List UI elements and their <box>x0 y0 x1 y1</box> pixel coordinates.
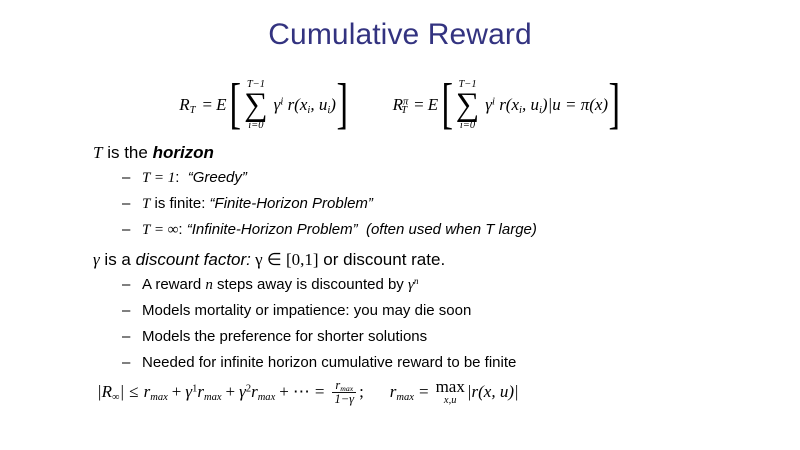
discount-text-a: is a <box>100 250 136 269</box>
body-content: T is the horizon – T = 1: “Greedy” – T i… <box>0 140 800 376</box>
bound-plus3: + <box>279 382 289 402</box>
formula1-summation: T−1 ∑ i=0 <box>244 79 268 131</box>
formula1-bracket-open: [ <box>230 83 242 127</box>
formula2-bracket-open: [ <box>442 83 454 127</box>
bound-plus1: + <box>172 382 182 402</box>
bound-term1: rmax <box>144 382 168 402</box>
dash-bullet-icon: – <box>122 272 142 298</box>
dash-bullet-icon: – <box>122 191 142 217</box>
list-item-content: A reward n steps away is discounted by γ… <box>142 272 419 298</box>
dash-bullet-icon: – <box>122 298 142 324</box>
rmax-lhs: rmax <box>390 382 414 402</box>
horizon-text: is the <box>102 143 152 162</box>
dash-bullet-icon: – <box>122 217 142 243</box>
formula2-equals: = <box>414 95 424 115</box>
bound-lhs: |R∞| <box>97 382 124 402</box>
formula-reward-bound: |R∞| ≤ rmax + γ1rmax + γ2rmax + ⋯ = rmax… <box>97 378 519 406</box>
bound-semicolon: ; <box>359 382 364 402</box>
list-item: – Needed for infinite horizon cumulative… <box>122 350 800 376</box>
list-item-content: T = 1: “Greedy” <box>142 165 247 191</box>
formula1-expectation: E <box>216 95 226 115</box>
fraction-denominator: 1−γ <box>332 393 356 406</box>
list-item: – T = 1: “Greedy” <box>122 165 800 191</box>
discount-math: γ ∈ [0,1] <box>251 250 319 269</box>
bullet-discount-factor: γ is a discount factor: γ ∈ [0,1] or dis… <box>93 247 800 272</box>
max-operator: max x,u <box>436 378 465 406</box>
formula2-condition: |u = π(x) <box>548 95 609 114</box>
formula2-terms: γi r(xi, ui)|u = π(x) <box>485 95 608 115</box>
formula-policy-reward: RπT = E [ T−1 ∑ i=0 γi r(xi, ui)|u = π(x… <box>393 79 621 131</box>
list-item-content: Models the preference for shorter soluti… <box>142 324 427 350</box>
formula2-sum-lower: i=0 <box>460 120 475 131</box>
page-title: Cumulative Reward <box>0 18 800 52</box>
list-item: – A reward n steps away is discounted by… <box>122 272 800 298</box>
max-label: max <box>436 378 465 395</box>
bound-equals: = <box>315 382 325 402</box>
formula1-lhs: RT <box>179 95 195 115</box>
formula2-summation: T−1 ∑ i=0 <box>456 79 480 131</box>
formula1-bracket-close: ] <box>336 83 348 127</box>
formula-cumulative-reward: RT = E [ T−1 ∑ i=0 γi r(xi, ui) ] <box>179 79 348 131</box>
formula1-terms: γi r(xi, ui) <box>274 95 336 115</box>
dash-bullet-icon: – <box>122 165 142 191</box>
list-item: – T is finite: “Finite-Horizon Problem” <box>122 191 800 217</box>
bound-leq: ≤ <box>129 382 138 402</box>
formula1-equals: = <box>203 95 213 115</box>
gamma-var: γ <box>93 250 100 269</box>
discount-emphasis: discount factor: <box>136 250 251 269</box>
max-subscript: x,u <box>444 395 457 406</box>
rmax-expression: |r(x, u)| <box>467 382 519 402</box>
dash-bullet-icon: – <box>122 350 142 376</box>
bound-ellipsis: ⋯ <box>293 382 310 402</box>
list-item: – Models mortality or impatience: you ma… <box>122 298 800 324</box>
list-item-content: Needed for infinite horizon cumulative r… <box>142 350 516 376</box>
sigma-icon: ∑ <box>244 90 268 120</box>
list-item-content: T is finite: “Finite-Horizon Problem” <box>142 191 373 217</box>
list-item: – Models the preference for shorter solu… <box>122 324 800 350</box>
bound-plus2: + <box>226 382 236 402</box>
bound-fraction: rmax 1−γ <box>332 379 356 406</box>
formula2-lhs: RπT <box>393 95 408 115</box>
bullet-horizon: T is the horizon <box>93 140 800 165</box>
formula1-sum-lower: i=0 <box>248 120 263 131</box>
formula2-expectation: E <box>428 95 438 115</box>
horizon-emphasis: horizon <box>153 143 214 162</box>
fraction-numerator: rmax <box>333 379 355 392</box>
formula2-bracket-close: ] <box>609 83 621 127</box>
list-item-content: Models mortality or impatience: you may … <box>142 298 471 324</box>
formula-row: RT = E [ T−1 ∑ i=0 γi r(xi, ui) ] RπT = … <box>0 74 800 136</box>
slide-canvas: Cumulative Reward RT = E [ T−1 ∑ i=0 γi … <box>0 0 800 450</box>
list-item: – T = ∞: “Infinite-Horizon Problem” (oft… <box>122 217 800 243</box>
discount-text-b: or discount rate. <box>319 250 446 269</box>
rmax-equals: = <box>419 382 429 402</box>
bound-term2: γ1rmax <box>185 382 221 402</box>
bound-term3: γ2rmax <box>239 382 275 402</box>
list-item-content: T = ∞: “Infinite-Horizon Problem” (often… <box>142 217 537 243</box>
sigma-icon: ∑ <box>456 90 480 120</box>
dash-bullet-icon: – <box>122 324 142 350</box>
